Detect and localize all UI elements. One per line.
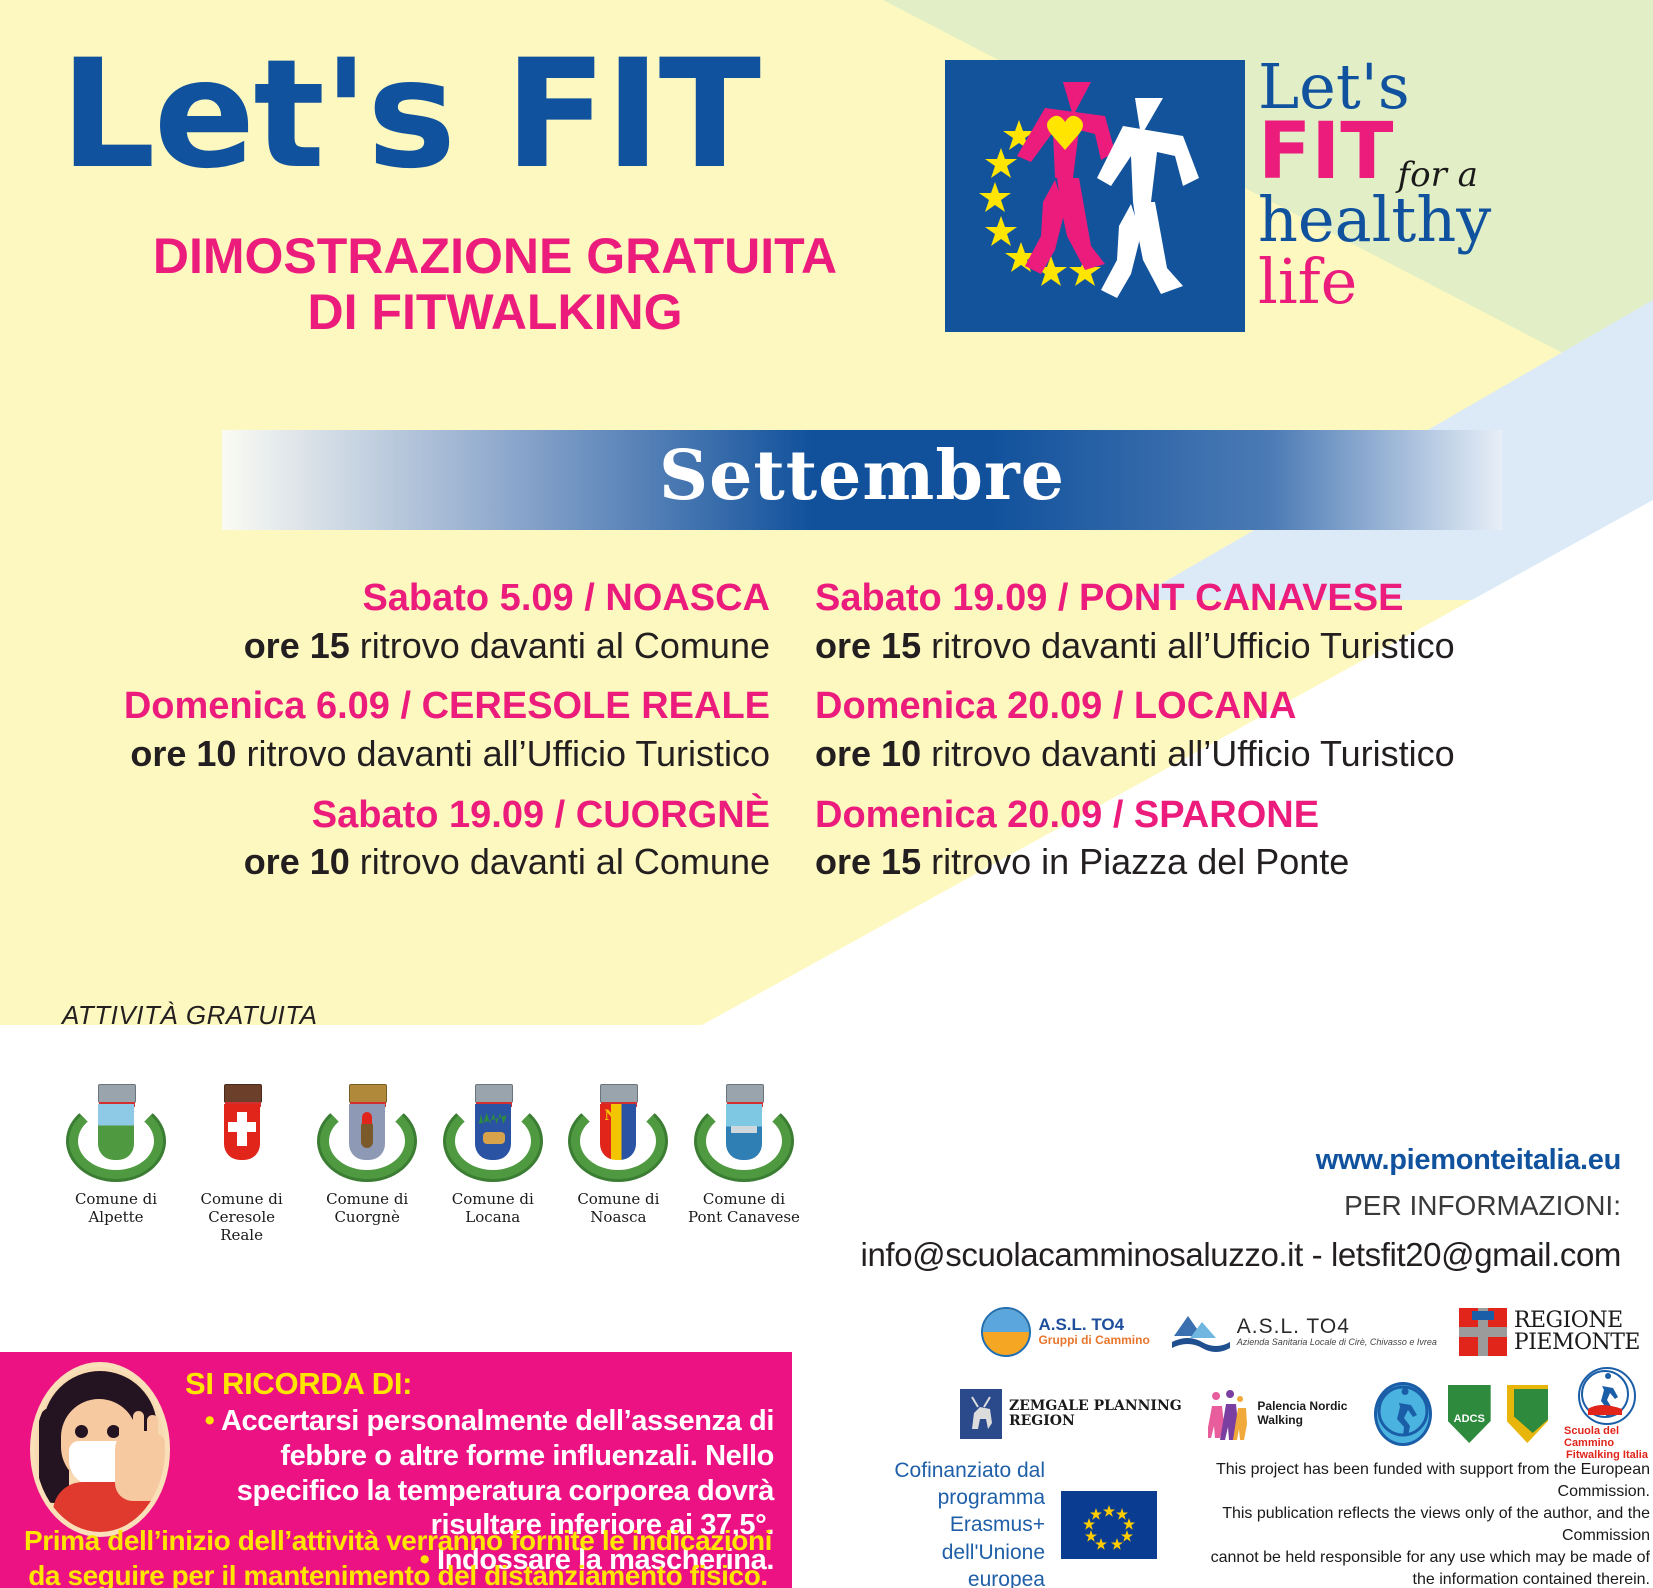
- partner-sub: PIEMONTE: [1514, 1332, 1640, 1354]
- event-time: 10: [196, 733, 236, 774]
- event-time-label: ore: [244, 625, 300, 666]
- crest-prefix: Comune di: [201, 1190, 283, 1208]
- partner-name: REGIONE: [1514, 1310, 1640, 1332]
- event-detail: ore 15 ritrovo davanti all’Ufficio Turis…: [815, 623, 1615, 670]
- partner-name: A.S.L. TO4: [1038, 1316, 1149, 1333]
- event-time-label: ore: [815, 625, 871, 666]
- logo-fit: FIT: [1258, 117, 1394, 189]
- event-title: Domenica 20.09 / LOCANA: [815, 683, 1615, 731]
- crest-item: Comune di Locana: [437, 1078, 549, 1226]
- partner-sub: Azienda Sanitaria Locale di Cirè, Chivas…: [1237, 1337, 1437, 1348]
- crest-name: Cuorgnè: [334, 1208, 399, 1226]
- reminder-box: SI RICORDA DI: • Accertarsi personalment…: [0, 1352, 792, 1588]
- page-title: Let's FIT: [60, 40, 759, 190]
- eu-funding-line-1: Cofinanziato dal: [860, 1457, 1045, 1484]
- crest-locana-icon: [437, 1078, 549, 1186]
- crest-name: Locana: [465, 1208, 520, 1226]
- event-time: 10: [881, 733, 921, 774]
- crest-ceresole-reale-icon: [186, 1078, 298, 1186]
- piemonte-cross-icon: [1459, 1308, 1507, 1356]
- eu-funding-text: Cofinanziato dal programma Erasmus+ dell…: [860, 1457, 1045, 1588]
- event-time: 15: [310, 625, 350, 666]
- partner-name: ADCS: [1448, 1413, 1491, 1425]
- letsfit-logo-icon: [945, 60, 1245, 332]
- crest-name: Pont Canavese: [688, 1208, 800, 1226]
- crest-prefix: Comune di: [326, 1190, 408, 1208]
- crest-name: Noasca: [590, 1208, 646, 1226]
- reminder-footer-line-1: Prima dell’inizio dell’attività verranno…: [18, 1524, 778, 1559]
- partner-sub: Gruppi di Cammino: [1038, 1333, 1149, 1347]
- elk-icon: [960, 1389, 1002, 1439]
- poster: Let's FIT DIMOSTRAZIONE GRATUITA DI FITW…: [0, 0, 1653, 1588]
- info-label: PER INFORMAZIONI:: [1344, 1190, 1621, 1222]
- event-detail: ore 10 ritrovo davanti all’Ufficio Turis…: [60, 731, 770, 778]
- crest-item: N Comune di Noasca: [562, 1078, 674, 1226]
- eu-flag-icon: [1061, 1491, 1157, 1559]
- event-title: Sabato 5.09 / NOASCA: [60, 575, 770, 623]
- event-title: Sabato 19.09 / CUORGNÈ: [60, 792, 770, 840]
- asl-to4-logo: A.S.L. TO4 Azienda Sanitaria Locale di C…: [1172, 1312, 1437, 1352]
- logo-lockup-text: Let's FITfor a healthy life: [1258, 58, 1588, 338]
- mountain-wave-icon: [1172, 1312, 1230, 1352]
- reminder-bullet-1: Accertarsi personalmente dell’assenza di…: [221, 1405, 774, 1541]
- crest-alpette-icon: [60, 1078, 172, 1186]
- crest-name: Alpette: [88, 1208, 143, 1226]
- bullet-dot: •: [205, 1405, 215, 1437]
- month-banner: Settembre: [222, 430, 1502, 530]
- event-time: 10: [310, 841, 350, 882]
- events-column-right: Sabato 19.09 / PONT CANAVESE ore 15 ritr…: [815, 575, 1615, 900]
- event-place: ritrovo davanti all’Ufficio Turistico: [931, 733, 1455, 774]
- crest-item: Comune di Pont Canavese: [688, 1078, 800, 1226]
- header: Let's FIT DIMOSTRAZIONE GRATUITA DI FITW…: [0, 0, 1653, 400]
- crest-prefix: Comune di: [452, 1190, 534, 1208]
- website-link[interactable]: www.piemonteitalia.eu: [1316, 1144, 1621, 1177]
- partner-name: ZEMGALE PLANNING REGION: [1009, 1399, 1192, 1430]
- blue-circle-runner-logo: [1374, 1382, 1432, 1446]
- palencia-nordic-walking-logo: Palencia Nordic Walking: [1208, 1388, 1357, 1440]
- reminder-title: SI RICORDA DI:: [185, 1366, 412, 1402]
- event-detail: ore 10 ritrovo davanti all’Ufficio Turis…: [815, 731, 1615, 778]
- eu-disclaimer-line-4: the information contained therein.: [1173, 1569, 1650, 1588]
- crest-pont-canavese-icon: [688, 1078, 800, 1186]
- event-time-label: ore: [815, 841, 871, 882]
- month-label: Settembre: [222, 436, 1502, 516]
- event-place: ritrovo davanti all’Ufficio Turistico: [246, 733, 770, 774]
- event-place: ritrovo davanti all’Ufficio Turistico: [931, 625, 1455, 666]
- eu-disclaimer-line-1: This project has been funded with suppor…: [1173, 1459, 1650, 1503]
- events-section: Sabato 5.09 / NOASCA ore 15 ritrovo dava…: [0, 575, 1653, 905]
- green-yellow-shield-logo: [1507, 1385, 1548, 1443]
- crest-label: Comune di Pont Canavese: [688, 1190, 800, 1226]
- partner-logos-row-2: ZEMGALE PLANNING REGION Palencia Nordic …: [960, 1368, 1650, 1460]
- crest-prefix: Comune di: [577, 1190, 659, 1208]
- woman-with-mask-icon: [30, 1362, 170, 1537]
- crest-label: Comune di Cuorgnè: [311, 1190, 423, 1226]
- event-title: Domenica 6.09 / CERESOLE REALE: [60, 683, 770, 731]
- partner-name: Scuola del Cammino: [1564, 1425, 1650, 1449]
- crest-prefix: Comune di: [703, 1190, 785, 1208]
- crest-item: Comune di Alpette: [60, 1078, 172, 1226]
- partner-name: A.S.L. TO4: [1237, 1316, 1437, 1337]
- crest-cuorgne-icon: [311, 1078, 423, 1186]
- crest-label: Comune di Noasca: [562, 1190, 674, 1226]
- subtitle-line-1: DIMOSTRAZIONE GRATUITA: [85, 228, 905, 284]
- eu-disclaimer-line-3: cannot be held responsible for any use w…: [1173, 1547, 1650, 1569]
- crest-item: Comune di Ceresole Reale: [186, 1078, 298, 1244]
- event-detail: ore 10 ritrovo davanti al Comune: [60, 839, 770, 886]
- asl-to4-gruppi-di-cammino-logo: A.S.L. TO4 Gruppi di Cammino: [981, 1307, 1149, 1357]
- event-item: Sabato 19.09 / CUORGNÈ ore 10 ritrovo da…: [60, 792, 770, 886]
- logo-life: life: [1258, 251, 1588, 313]
- runner-circle-icon: [1578, 1367, 1636, 1425]
- event-item: Domenica 20.09 / SPARONE ore 15 ritrovo …: [815, 792, 1615, 886]
- event-time-label: ore: [815, 733, 871, 774]
- crest-name: Ceresole Reale: [208, 1208, 275, 1244]
- partner-logos-row-1: A.S.L. TO4 Gruppi di Cammino A.S.L. TO4 …: [980, 1282, 1640, 1382]
- scuola-del-cammino-logo: Scuola del Cammino Fitwalking Italia: [1564, 1367, 1650, 1461]
- crest-label: Comune di Alpette: [60, 1190, 172, 1226]
- crest-prefix: Comune di: [75, 1190, 157, 1208]
- reminder-footer-line-2: da seguire per il mantenimento del dista…: [18, 1559, 778, 1588]
- municipal-crests: Comune di Alpette Comune di Ceresole Rea…: [60, 1078, 800, 1268]
- event-title: Domenica 20.09 / SPARONE: [815, 792, 1615, 840]
- logo-healthy: healthy: [1258, 189, 1588, 251]
- eu-disclaimer-line-2: This publication reflects the views only…: [1173, 1503, 1650, 1547]
- crest-label: Comune di Ceresole Reale: [186, 1190, 298, 1244]
- nordic-walkers-icon: [1208, 1388, 1250, 1440]
- events-column-left: Sabato 5.09 / NOASCA ore 15 ritrovo dava…: [60, 575, 770, 900]
- event-time-label: ore: [130, 733, 186, 774]
- eu-disclaimer: This project has been funded with suppor…: [1173, 1459, 1650, 1588]
- free-activity-note: ATTIVITÀ GRATUITA: [62, 1000, 318, 1031]
- crest-label: Comune di Locana: [437, 1190, 549, 1226]
- event-detail: ore 15 ritrovo in Piazza del Ponte: [815, 839, 1615, 886]
- event-time-label: ore: [244, 841, 300, 882]
- page-subtitle: DIMOSTRAZIONE GRATUITA DI FITWALKING: [85, 228, 905, 340]
- event-time: 15: [881, 625, 921, 666]
- crest-noasca-icon: N: [562, 1078, 674, 1186]
- event-item: Sabato 5.09 / NOASCA ore 15 ritrovo dava…: [60, 575, 770, 669]
- event-place: ritrovo in Piazza del Ponte: [931, 841, 1349, 882]
- logo-for-a: for a: [1398, 155, 1478, 195]
- partner-name: Palencia Nordic Walking: [1257, 1400, 1357, 1428]
- reminder-footer: Prima dell’inizio dell’attività verranno…: [18, 1524, 778, 1588]
- event-title: Sabato 19.09 / PONT CANAVESE: [815, 575, 1615, 623]
- regione-piemonte-logo: REGIONE PIEMONTE: [1459, 1308, 1640, 1356]
- eu-funding-line-2: programma Erasmus+: [860, 1484, 1045, 1539]
- event-item: Domenica 20.09 / LOCANA ore 10 ritrovo d…: [815, 683, 1615, 777]
- walking-group-icon: [981, 1307, 1031, 1357]
- event-place: ritrovo davanti al Comune: [360, 841, 770, 882]
- eu-funding-line-3: dell'Unione europea: [860, 1539, 1045, 1588]
- subtitle-line-2: DI FITWALKING: [85, 284, 905, 340]
- event-place: ritrovo davanti al Comune: [360, 625, 770, 666]
- eu-funding-section: Cofinanziato dal programma Erasmus+ dell…: [860, 1470, 1650, 1580]
- contact-emails[interactable]: info@scuolacamminosaluzzo.it - letsfit20…: [861, 1236, 1621, 1274]
- crest-item: Comune di Cuorgnè: [311, 1078, 423, 1226]
- adcs-logo: ADCS: [1448, 1385, 1491, 1443]
- event-item: Domenica 6.09 / CERESOLE REALE ore 10 ri…: [60, 683, 770, 777]
- event-detail: ore 15 ritrovo davanti al Comune: [60, 623, 770, 670]
- zemgale-planning-region-logo: ZEMGALE PLANNING REGION: [960, 1389, 1192, 1439]
- event-item: Sabato 19.09 / PONT CANAVESE ore 15 ritr…: [815, 575, 1615, 669]
- event-time: 15: [881, 841, 921, 882]
